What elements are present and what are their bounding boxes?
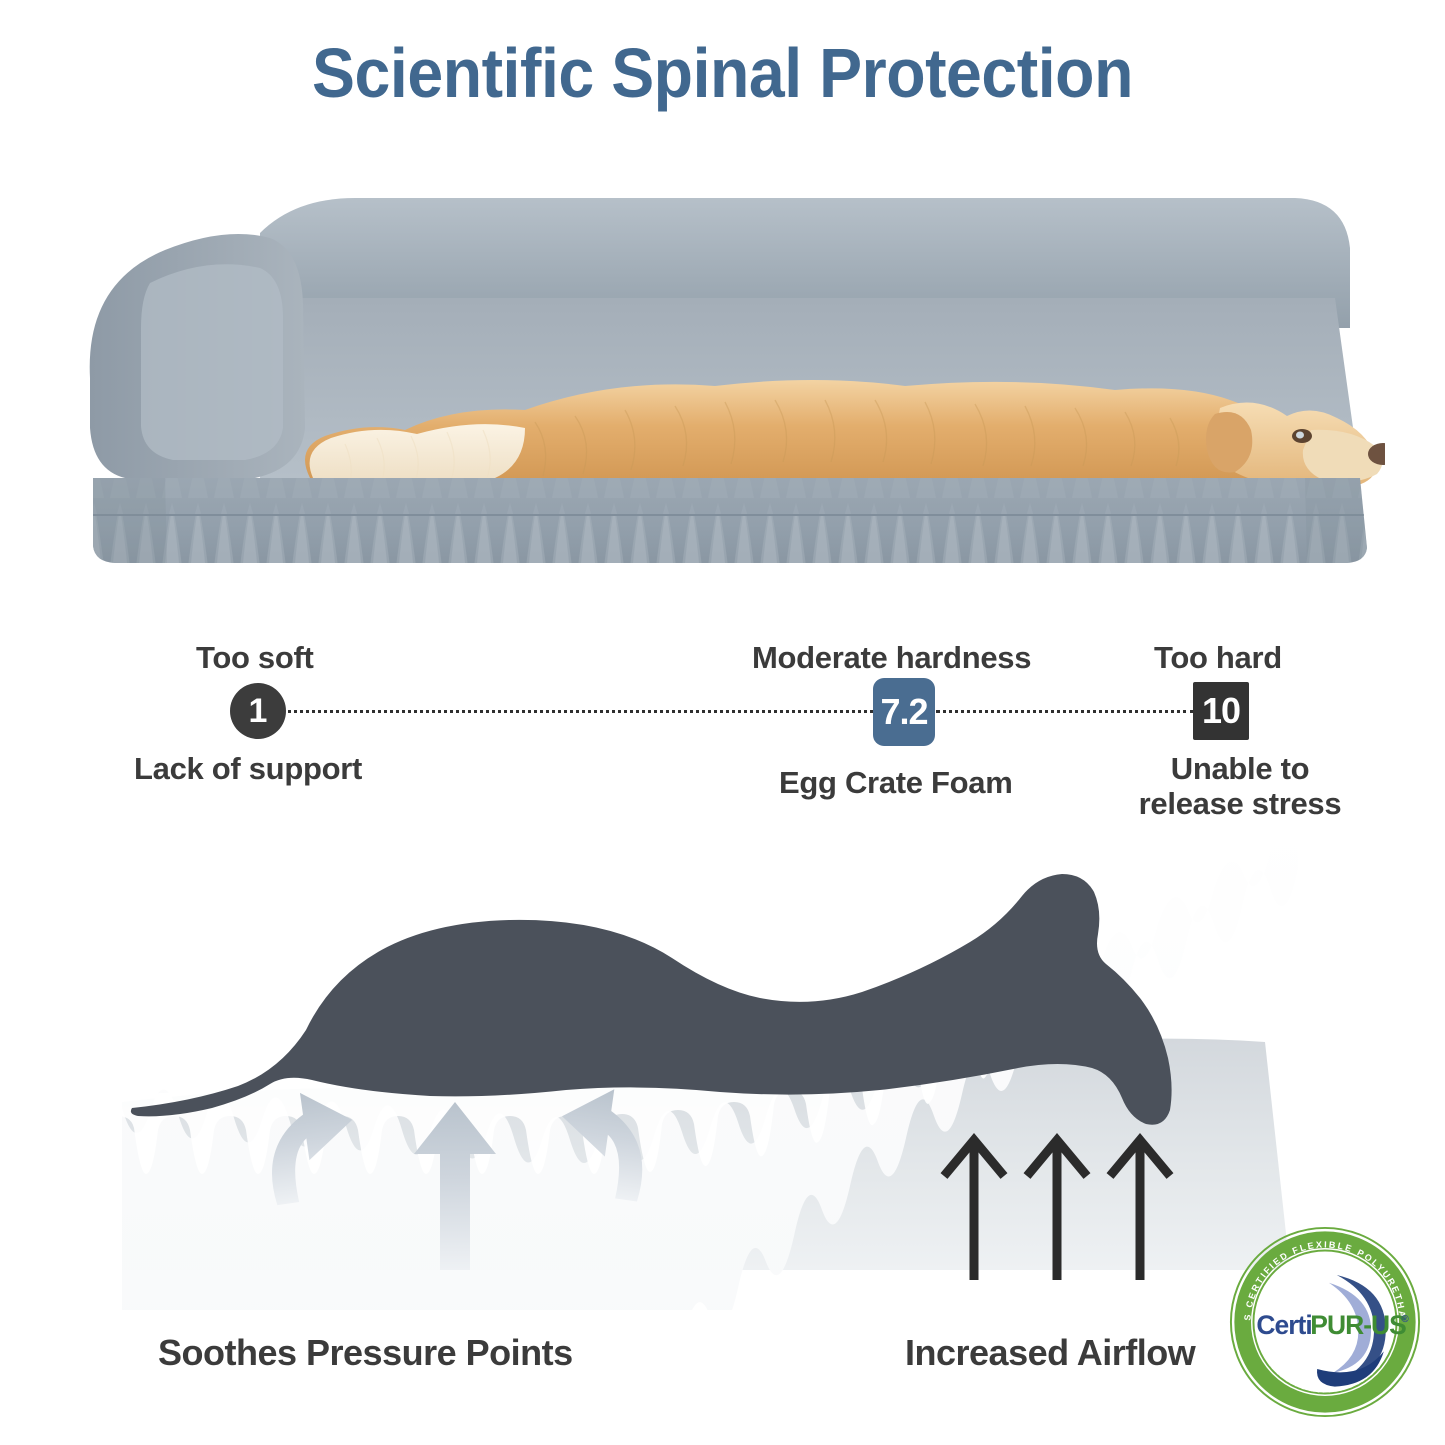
scale-top-label-moderate-hardness: Moderate hardness — [752, 640, 1031, 676]
scale-badge-10: 10 — [1193, 682, 1249, 740]
page-title: Scientific Spinal Protection — [58, 34, 1387, 112]
svg-text:®: ® — [1401, 1314, 1409, 1325]
airflow-arrows — [944, 1140, 1170, 1280]
product-photo — [55, 178, 1385, 578]
scale-badge-1: 1 — [230, 683, 286, 739]
scale-bottom-label-unable-release-line1: Unable to — [1140, 751, 1340, 787]
firmness-scale: Too soft 1 Lack of support Moderate hard… — [0, 628, 1445, 828]
scale-line-left — [288, 710, 873, 713]
infographic-page: Scientific Spinal Protection — [0, 0, 1445, 1445]
scale-top-label-too-hard: Too hard — [1154, 640, 1282, 676]
certipur-us-seal: CONTAINS CERTIFIED FLEXIBLE POLYURETHANE… — [1227, 1222, 1423, 1422]
label-increased-airflow: Increased Airflow — [905, 1332, 1195, 1374]
dog-bed-illustration — [55, 178, 1385, 578]
certipur-wordmark: Certi PUR-US ® — [1256, 1310, 1409, 1340]
scale-top-label-too-soft: Too soft — [196, 640, 314, 676]
scale-badge-7-2: 7.2 — [873, 678, 935, 746]
svg-text:Certi: Certi — [1256, 1310, 1311, 1340]
scale-line-right — [936, 710, 1194, 713]
scale-bottom-label-unable-release-line2: release stress — [1110, 786, 1370, 822]
label-soothes-pressure-points: Soothes Pressure Points — [158, 1332, 573, 1374]
scale-bottom-label-lack-of-support: Lack of support — [134, 751, 362, 787]
scale-bottom-label-egg-crate-foam: Egg Crate Foam — [779, 765, 1013, 801]
certipur-seal-svg: CONTAINS CERTIFIED FLEXIBLE POLYURETHANE… — [1227, 1222, 1423, 1422]
svg-text:PUR-US: PUR-US — [1310, 1310, 1406, 1340]
